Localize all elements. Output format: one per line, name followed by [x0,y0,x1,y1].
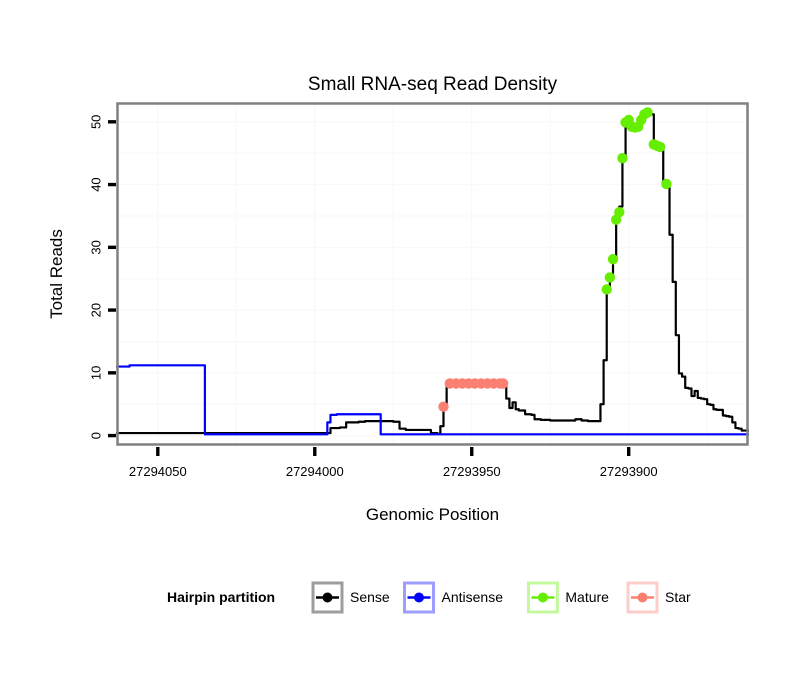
data-point-mature [602,284,612,294]
y-axis-tick-label: 20 [88,303,103,317]
y-axis-tick-label: 10 [88,366,103,380]
y-axis-label: Total Reads [47,229,66,319]
legend-label-antisense: Antisense [442,589,504,605]
legend-key-point [538,593,548,603]
data-point-star [498,378,508,388]
y-axis-tick-label: 0 [88,432,103,439]
legend-key-point [323,593,333,603]
legend-label-mature: Mature [565,589,609,605]
data-point-mature [614,207,624,217]
legend: Hairpin partitionSenseAntisenseMatureSta… [167,583,691,612]
x-axis-tick-label: 27294000 [286,464,344,479]
x-axis-tick-label: 27294050 [129,464,187,479]
legend-key-point [414,593,424,603]
legend-title: Hairpin partition [167,589,275,605]
y-axis-tick-label: 50 [88,115,103,129]
x-axis-label: Genomic Position [366,505,499,524]
y-axis-tick-label: 30 [88,240,103,254]
legend-key-point [638,593,648,603]
plot-panel-background [117,103,748,445]
legend-label-sense: Sense [350,589,390,605]
data-point-mature [661,179,671,189]
data-point-star [438,402,448,412]
data-point-mature [655,142,665,152]
data-point-mature [605,272,615,282]
legend-label-star: Star [665,589,691,605]
data-point-mature [617,153,627,163]
x-axis-tick-label: 27293900 [600,464,658,479]
chart-title: Small RNA-seq Read Density [308,74,558,95]
read-density-chart: 0102030405027294050272940002729395027293… [0,0,810,690]
y-axis-tick-label: 40 [88,177,103,191]
data-point-mature [608,254,618,264]
x-axis-tick-label: 27293950 [443,464,501,479]
data-point-mature [642,107,652,117]
chart-page: 0102030405027294050272940002729395027293… [0,0,810,690]
